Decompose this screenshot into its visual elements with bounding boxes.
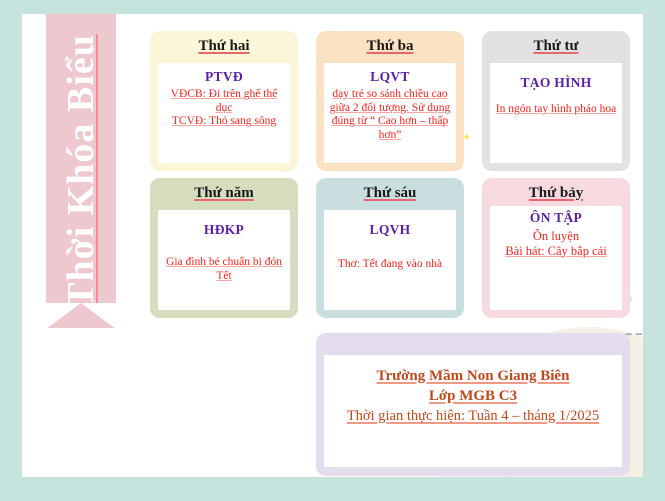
subject-saturday: ÔN TẬP [494, 210, 618, 226]
day-label-friday: Thứ sáu [316, 178, 464, 205]
schedule-period: Thời gian thực hiện: Tuần 4 – tháng 1/20… [324, 408, 622, 425]
detail-thursday-1: Gia đình bé chuẩn bị đón Tết [162, 256, 286, 283]
detail-monday-1: VĐCB: Đi trên ghế thể dục [162, 88, 286, 115]
subject-thursday: HĐKP [162, 222, 286, 238]
day-label-monday: Thứ hai [150, 31, 298, 58]
day-card-wednesday[interactable]: Thứ tư TẠO HÌNH In ngón tay hình pháo ho… [482, 31, 630, 171]
detail-wednesday-1: In ngón tay hình pháo hoa [494, 103, 618, 117]
day-label-thursday: Thứ năm [150, 178, 298, 205]
day-body-thursday: HĐKP Gia đình bé chuẩn bị đón Tết [158, 210, 290, 310]
schedule-poster: ✦ ✦ ✦ ✦ ✦ ✦ ✦ Thời Khóa Biểu Thứ hai PTV… [0, 0, 665, 501]
day-body-wednesday: TẠO HÌNH In ngón tay hình pháo hoa [490, 63, 622, 163]
poster-canvas: ✦ ✦ ✦ ✦ ✦ ✦ ✦ Thời Khóa Biểu Thứ hai PTV… [22, 14, 643, 477]
class-name: Lớp MGB C3 [324, 387, 622, 407]
day-card-friday[interactable]: Thứ sáu LQVH Thơ: Tết đang vào nhà [316, 178, 464, 318]
subject-wednesday: TẠO HÌNH [494, 75, 618, 91]
detail-friday-1: Thơ: Tết đang vào nhà [328, 258, 452, 272]
day-card-thursday[interactable]: Thứ năm HĐKP Gia đình bé chuẩn bị đón Tế… [150, 178, 298, 318]
day-label-wednesday: Thứ tư [482, 31, 630, 58]
footer-info-card[interactable]: Trường Mầm Non Giang Biên Lớp MGB C3 Thờ… [316, 333, 630, 476]
day-body-saturday: ÔN TẬP Ôn luyện Bài hát: Cây bắp cải [490, 206, 622, 310]
detail-tuesday-1: dạy trẻ so sánh chiều cao giữa 2 đối tượ… [328, 88, 452, 142]
day-card-monday[interactable]: Thứ hai PTVĐ VĐCB: Đi trên ghế thể dục T… [150, 31, 298, 171]
subject-monday: PTVĐ [162, 69, 286, 85]
footer-body: Trường Mầm Non Giang Biên Lớp MGB C3 Thờ… [324, 355, 622, 467]
day-card-tuesday[interactable]: Thứ ba LQVT dạy trẻ so sánh chiều cao gi… [316, 31, 464, 171]
detail-saturday-1: Ôn luyện [494, 229, 618, 244]
subject-friday: LQVH [328, 222, 452, 238]
day-body-friday: LQVH Thơ: Tết đang vào nhà [324, 210, 456, 310]
subject-tuesday: LQVT [328, 69, 452, 85]
detail-monday-2: TCVĐ: Thỏ sang sông [162, 115, 286, 129]
day-label-saturday: Thứ bảy [482, 178, 630, 205]
school-name: Trường Mầm Non Giang Biên [324, 367, 622, 387]
day-body-tuesday: LQVT dạy trẻ so sánh chiều cao giữa 2 đố… [324, 63, 456, 163]
title-ribbon: Thời Khóa Biểu [46, 14, 116, 328]
day-body-monday: PTVĐ VĐCB: Đi trên ghế thể dục TCVĐ: Thỏ… [158, 63, 290, 163]
day-label-tuesday: Thứ ba [316, 31, 464, 58]
page-title: Thời Khóa Biểu [59, 34, 103, 308]
day-card-saturday[interactable]: Thứ bảy ÔN TẬP Ôn luyện Bài hát: Cây bắp… [482, 178, 630, 318]
detail-saturday-2: Bài hát: Cây bắp cải [494, 244, 618, 259]
